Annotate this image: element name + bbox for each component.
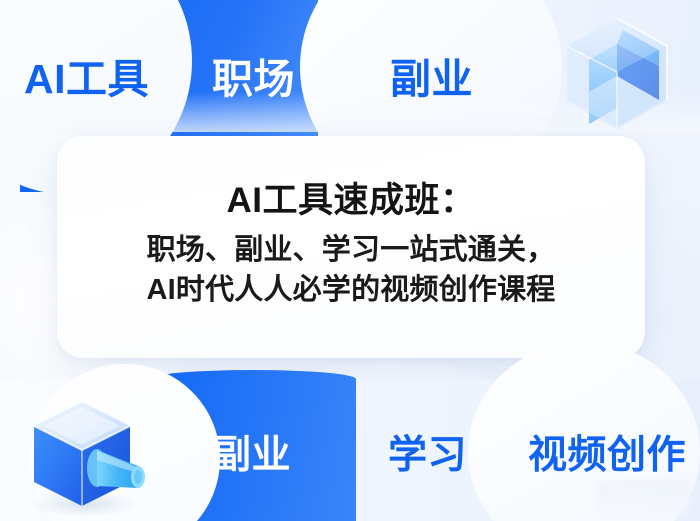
- tag-ai-tools[interactable]: AI工具: [24, 45, 149, 105]
- card-subtitle-line-2: AI时代人人必学的视频创作课程: [146, 271, 555, 310]
- poster-canvas: AI工具 职场 副业: [0, 0, 700, 521]
- tag-side-hustle-bottom[interactable]: 副业: [212, 424, 291, 480]
- card-title: AI工具速成班：: [226, 180, 475, 222]
- tag-side-hustle-top[interactable]: 副业: [390, 45, 473, 105]
- tag-video-creation[interactable]: 视频创作: [528, 424, 686, 480]
- isometric-glass-cube-icon: [543, 8, 691, 136]
- card-subtitle-line-1: 职场、副业、学习一站式通关，: [147, 231, 556, 270]
- blue-cube-plug-icon: [18, 388, 154, 520]
- watermark: [596, 481, 692, 515]
- headline-card: AI工具速成班： 职场、副业、学习一站式通关， AI时代人人必学的视频创作课程: [57, 136, 645, 358]
- tag-workplace[interactable]: 职场: [212, 45, 295, 105]
- tag-study[interactable]: 学习: [388, 424, 467, 480]
